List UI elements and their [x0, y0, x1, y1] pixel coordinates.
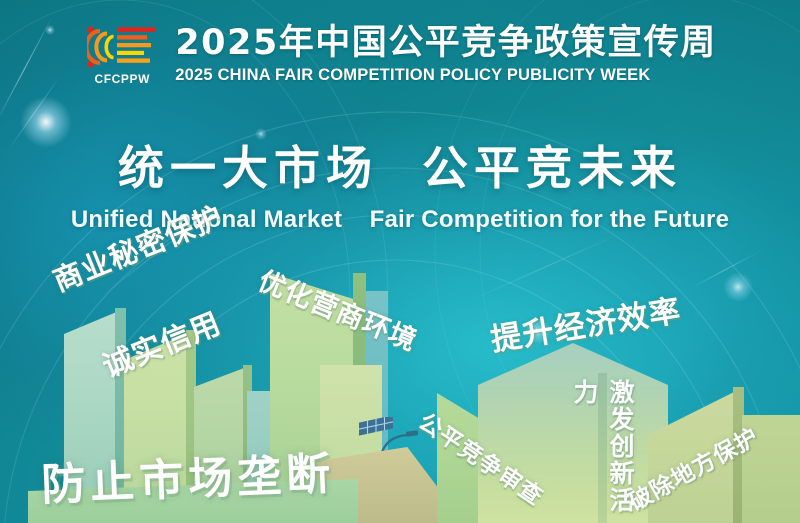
brand-logo: CFCPPW — [83, 25, 161, 86]
poster-header: CFCPPW 2025年中国公平竞争政策宣传周 2025 CHINA FAIR … — [0, 16, 800, 94]
slogan-block: 统一大市场 公平竞未来 Unified National Market Fair… — [0, 132, 800, 234]
skyline-illustration: 商业秘密保护 诚实信用 优化营商环境 提升经济效率 公平竞争审查 激发创新活力 … — [0, 253, 800, 523]
label-innovation: 激发创新活力 — [566, 379, 638, 523]
label-prevent-monopoly: 防止市场垄断 — [40, 438, 336, 513]
header-titles: 2025年中国公平竞争政策宣传周 2025 CHINA FAIR COMPETI… — [175, 25, 716, 84]
header-title-cn: 2025年中国公平竞争政策宣传周 — [175, 25, 716, 62]
cfcppw-arc-logo-icon — [87, 25, 157, 69]
poster-canvas: CFCPPW 2025年中国公平竞争政策宣传周 2025 CHINA FAIR … — [0, 0, 800, 523]
header-title-en: 2025 CHINA FAIR COMPETITION POLICY PUBLI… — [175, 66, 716, 85]
logo-abbreviation: CFCPPW — [94, 72, 150, 86]
slogan-cn: 统一大市场 公平竞未来 — [0, 132, 800, 198]
